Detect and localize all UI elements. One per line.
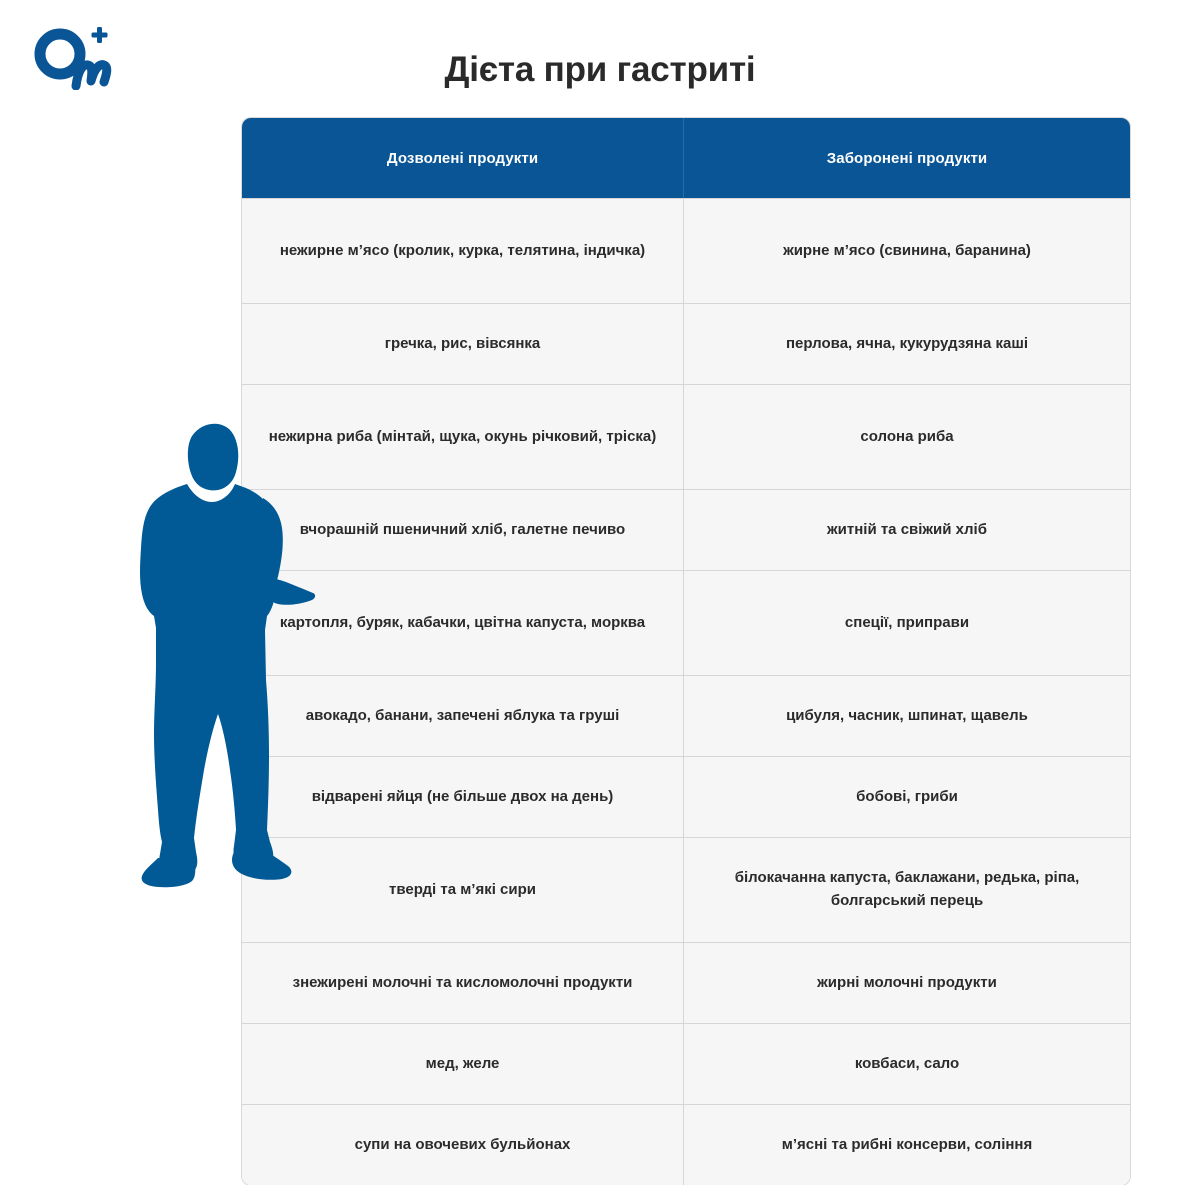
table-row: знежирені молочні та кисломолочні продук…: [242, 942, 1130, 1023]
cell-allowed: супи на овочевих бульйонах: [242, 1104, 684, 1185]
table-header-row: Дозволені продукти Заборонені продукти: [242, 118, 1130, 198]
plus-icon: [92, 27, 108, 43]
cell-forbidden: жирні молочні продукти: [684, 942, 1130, 1023]
cell-forbidden: житній та свіжий хліб: [684, 489, 1130, 570]
cell-allowed: мед, желе: [242, 1023, 684, 1104]
table-row: тверді та м’які сири білокачанна капуста…: [242, 837, 1130, 942]
column-header-allowed: Дозволені продукти: [242, 118, 684, 198]
cell-forbidden: бобові, гриби: [684, 756, 1130, 837]
table-row: авокадо, банани, запечені яблука та груш…: [242, 675, 1130, 756]
cell-forbidden: білокачанна капуста, баклажани, редька, …: [684, 837, 1130, 942]
table-row: супи на овочевих бульйонах м’ясні та риб…: [242, 1104, 1130, 1185]
table-row: нежирне м’ясо (кролик, курка, телятина, …: [242, 198, 1130, 303]
table-row: вчорашній пшеничний хліб, галетне печиво…: [242, 489, 1130, 570]
cell-allowed: вчорашній пшеничний хліб, галетне печиво: [242, 489, 684, 570]
cell-forbidden: ковбаси, сало: [684, 1023, 1130, 1104]
cell-allowed: відварені яйця (не більше двох на день): [242, 756, 684, 837]
diet-table: Дозволені продукти Заборонені продукти н…: [242, 118, 1130, 1185]
page-title: Дієта при гастриті: [0, 49, 1200, 91]
cell-forbidden: цибуля, часник, шпинат, щавель: [684, 675, 1130, 756]
table-body: нежирне м’ясо (кролик, курка, телятина, …: [242, 198, 1130, 1185]
cell-allowed: тверді та м’які сири: [242, 837, 684, 942]
table-row: нежирна риба (мінтай, щука, окунь річков…: [242, 384, 1130, 489]
table-row: мед, желе ковбаси, сало: [242, 1023, 1130, 1104]
cell-allowed: нежирна риба (мінтай, щука, окунь річков…: [242, 384, 684, 489]
cell-forbidden: солона риба: [684, 384, 1130, 489]
cell-allowed: нежирне м’ясо (кролик, курка, телятина, …: [242, 198, 684, 303]
cell-forbidden: спеції, приправи: [684, 570, 1130, 675]
diet-table-container: Дозволені продукти Заборонені продукти н…: [242, 118, 1130, 1185]
table-row: гречка, рис, вівсянка перлова, ячна, кук…: [242, 303, 1130, 384]
cell-allowed: авокадо, банани, запечені яблука та груш…: [242, 675, 684, 756]
cell-forbidden: м’ясні та рибні консерви, соління: [684, 1104, 1130, 1185]
cell-allowed: гречка, рис, вівсянка: [242, 303, 684, 384]
table-header: Дозволені продукти Заборонені продукти: [242, 118, 1130, 198]
cell-allowed: картопля, буряк, кабачки, цвітна капуста…: [242, 570, 684, 675]
cell-allowed: знежирені молочні та кисломолочні продук…: [242, 942, 684, 1023]
column-header-forbidden: Заборонені продукти: [684, 118, 1130, 198]
table-row: відварені яйця (не більше двох на день) …: [242, 756, 1130, 837]
table-row: картопля, буряк, кабачки, цвітна капуста…: [242, 570, 1130, 675]
cell-forbidden: жирне м’ясо (свинина, баранина): [684, 198, 1130, 303]
cell-forbidden: перлова, ячна, кукурудзяна каші: [684, 303, 1130, 384]
